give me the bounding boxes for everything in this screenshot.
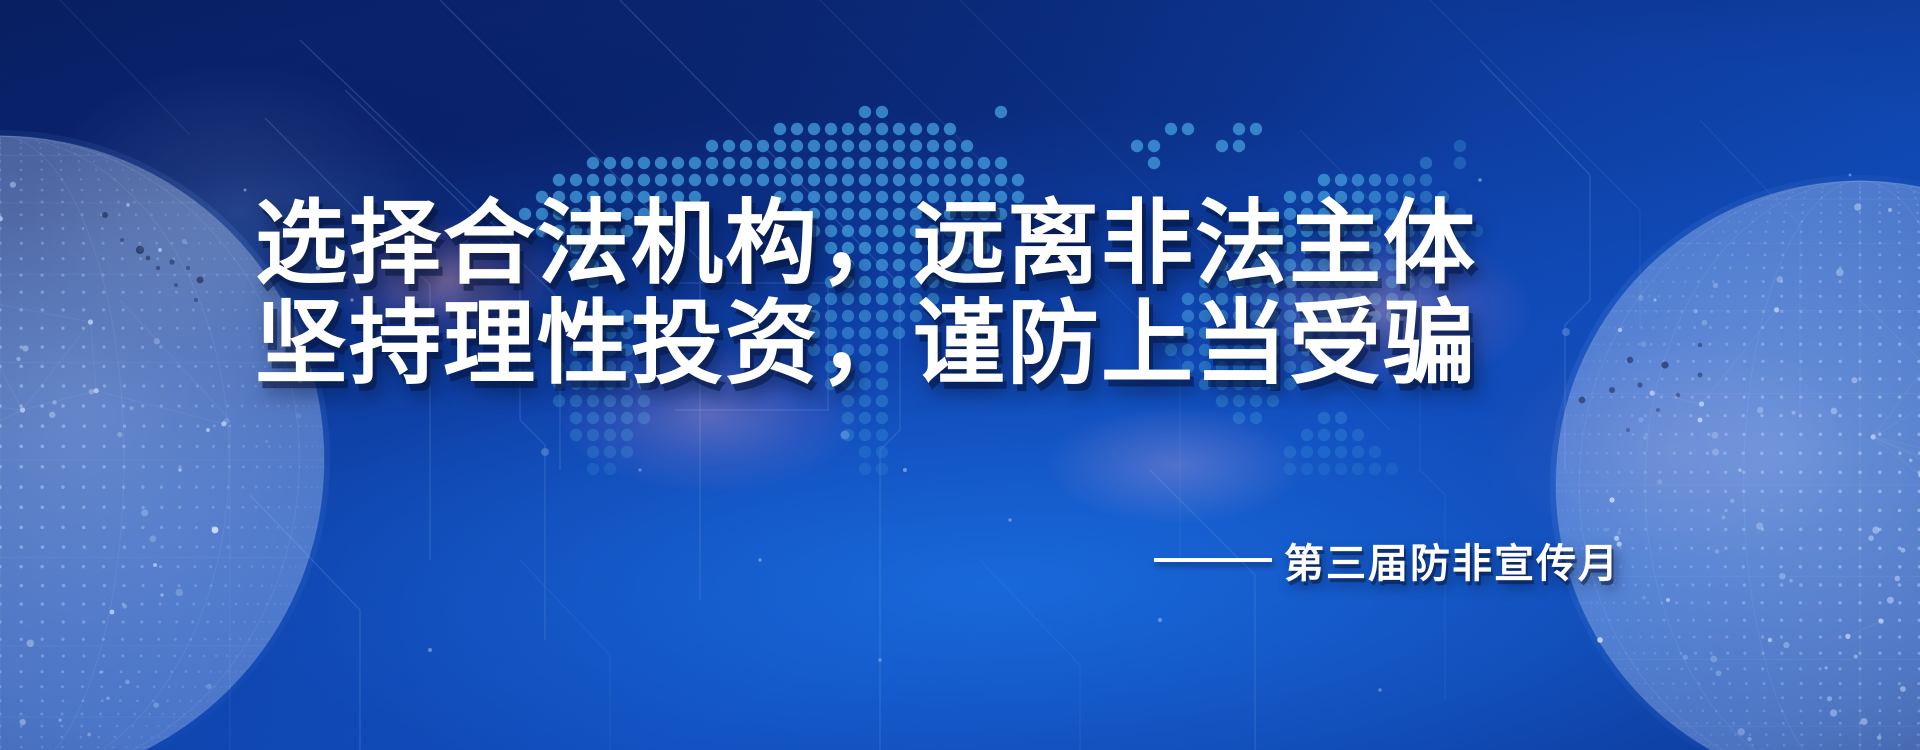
attribution-label: 第三届防非宣传月 [1284, 531, 1620, 589]
headline-line-2: 坚持理性投资，谨防上当受骗 [255, 298, 1655, 390]
em-dash-rule [1154, 558, 1272, 562]
attribution: 第三届防非宣传月 [1154, 531, 1620, 589]
promotional-banner: 选择合法机构，远离非法主体 坚持理性投资，谨防上当受骗 第三届防非宣传月 [0, 0, 1920, 750]
headline-line-1: 选择合法机构，远离非法主体 [255, 198, 1655, 290]
banner-text-block: 选择合法机构，远离非法主体 坚持理性投资，谨防上当受骗 第三届防非宣传月 [0, 0, 1920, 750]
